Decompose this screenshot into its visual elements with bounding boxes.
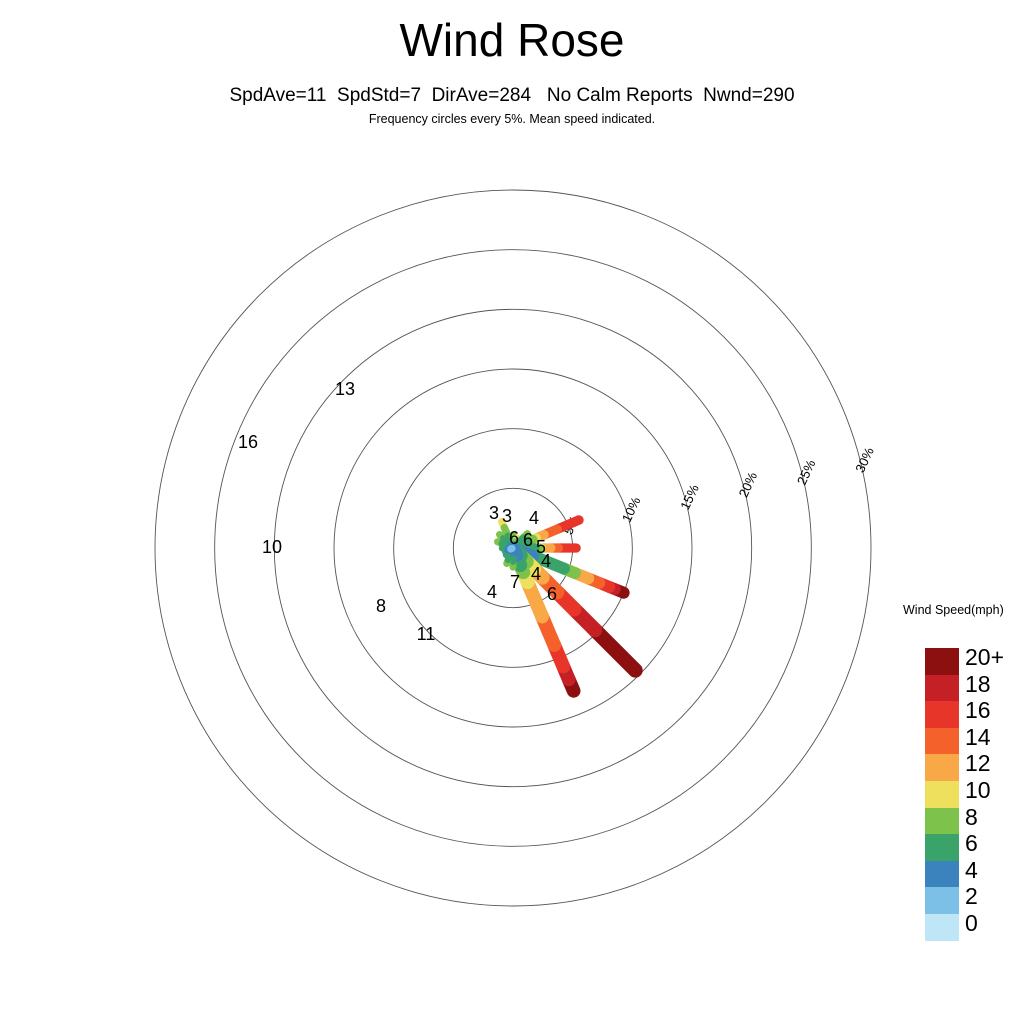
petal-mean-speed-label: 6 — [547, 584, 557, 604]
legend-label: 6 — [965, 830, 978, 857]
petal-mean-speed-label: 13 — [335, 379, 355, 399]
legend-label: 10 — [965, 777, 991, 804]
legend-label: 18 — [965, 671, 991, 698]
legend-color-swatch — [925, 834, 959, 861]
legend-label: 20+ — [965, 644, 1004, 671]
legend-color-swatch — [925, 648, 959, 675]
ring-tick-label: 30% — [852, 445, 877, 475]
legend-row[interactable]: 10 — [925, 781, 959, 808]
legend-row[interactable]: 12 — [925, 754, 959, 781]
legend-label: 16 — [965, 697, 991, 724]
wind-speed-legend: 20+181614121086420 — [925, 648, 959, 941]
legend-label: 12 — [965, 750, 991, 777]
legend-label: 8 — [965, 804, 978, 831]
petal-mean-speed-label: 10 — [262, 537, 282, 557]
petal-mean-speed-label: 6 — [523, 530, 533, 550]
legend-color-swatch — [925, 887, 959, 914]
legend-row[interactable]: 16 — [925, 701, 959, 728]
legend-row[interactable]: 14 — [925, 728, 959, 755]
legend-label: 2 — [965, 883, 978, 910]
legend-row[interactable]: 2 — [925, 887, 959, 914]
legend-row[interactable]: 8 — [925, 808, 959, 835]
legend-color-swatch — [925, 808, 959, 835]
legend-color-swatch — [925, 861, 959, 888]
legend-color-swatch — [925, 914, 959, 941]
petal-speed-segment — [511, 548, 512, 549]
legend-color-swatch — [925, 728, 959, 755]
petal-mean-speed-label: 5 — [536, 537, 546, 557]
ring-tick-labels: 5%10%15%20%25%30% — [560, 445, 877, 537]
legend-row[interactable]: 6 — [925, 834, 959, 861]
wind-rose-plot: 5%10%15%20%25%30% 13161081147464564633 — [0, 0, 1024, 1024]
legend-row[interactable]: 4 — [925, 861, 959, 888]
legend-color-swatch — [925, 754, 959, 781]
legend-row[interactable]: 0 — [925, 914, 959, 941]
wind-petal — [505, 548, 512, 551]
petal-mean-speed-label: 4 — [529, 508, 539, 528]
petal-mean-speed-label: 4 — [487, 582, 497, 602]
petal-mean-speed-label: 3 — [502, 506, 512, 526]
legend-color-swatch — [925, 781, 959, 808]
legend-title: Wind Speed(mph) — [903, 602, 1004, 618]
petal-mean-speed-labels: 13161081147464564633 — [238, 379, 557, 644]
petal-mean-speed-label: 6 — [509, 528, 519, 548]
petal-mean-speed-label: 16 — [238, 432, 258, 452]
legend-label: 14 — [965, 724, 991, 751]
petal-mean-speed-label: 7 — [510, 572, 520, 592]
legend-color-swatch — [925, 675, 959, 702]
ring-tick-label: 25% — [794, 457, 819, 487]
ring-tick-label: 20% — [736, 469, 761, 499]
legend-row[interactable]: 20+ — [925, 648, 959, 675]
wind-rose-page: Wind Rose SpdAve=11 SpdStd=7 DirAve=284 … — [0, 0, 1024, 1024]
petal-mean-speed-label: 8 — [376, 596, 386, 616]
petal-speed-segment — [595, 630, 635, 670]
petal-mean-speed-label: 3 — [489, 503, 499, 523]
legend-label: 0 — [965, 910, 978, 937]
legend-label: 4 — [965, 857, 978, 884]
legend-row[interactable]: 18 — [925, 675, 959, 702]
petal-mean-speed-label: 11 — [417, 624, 436, 644]
petal-mean-speed-label: 4 — [531, 564, 541, 584]
legend-color-swatch — [925, 701, 959, 728]
ring-tick-label: 10% — [619, 494, 644, 524]
